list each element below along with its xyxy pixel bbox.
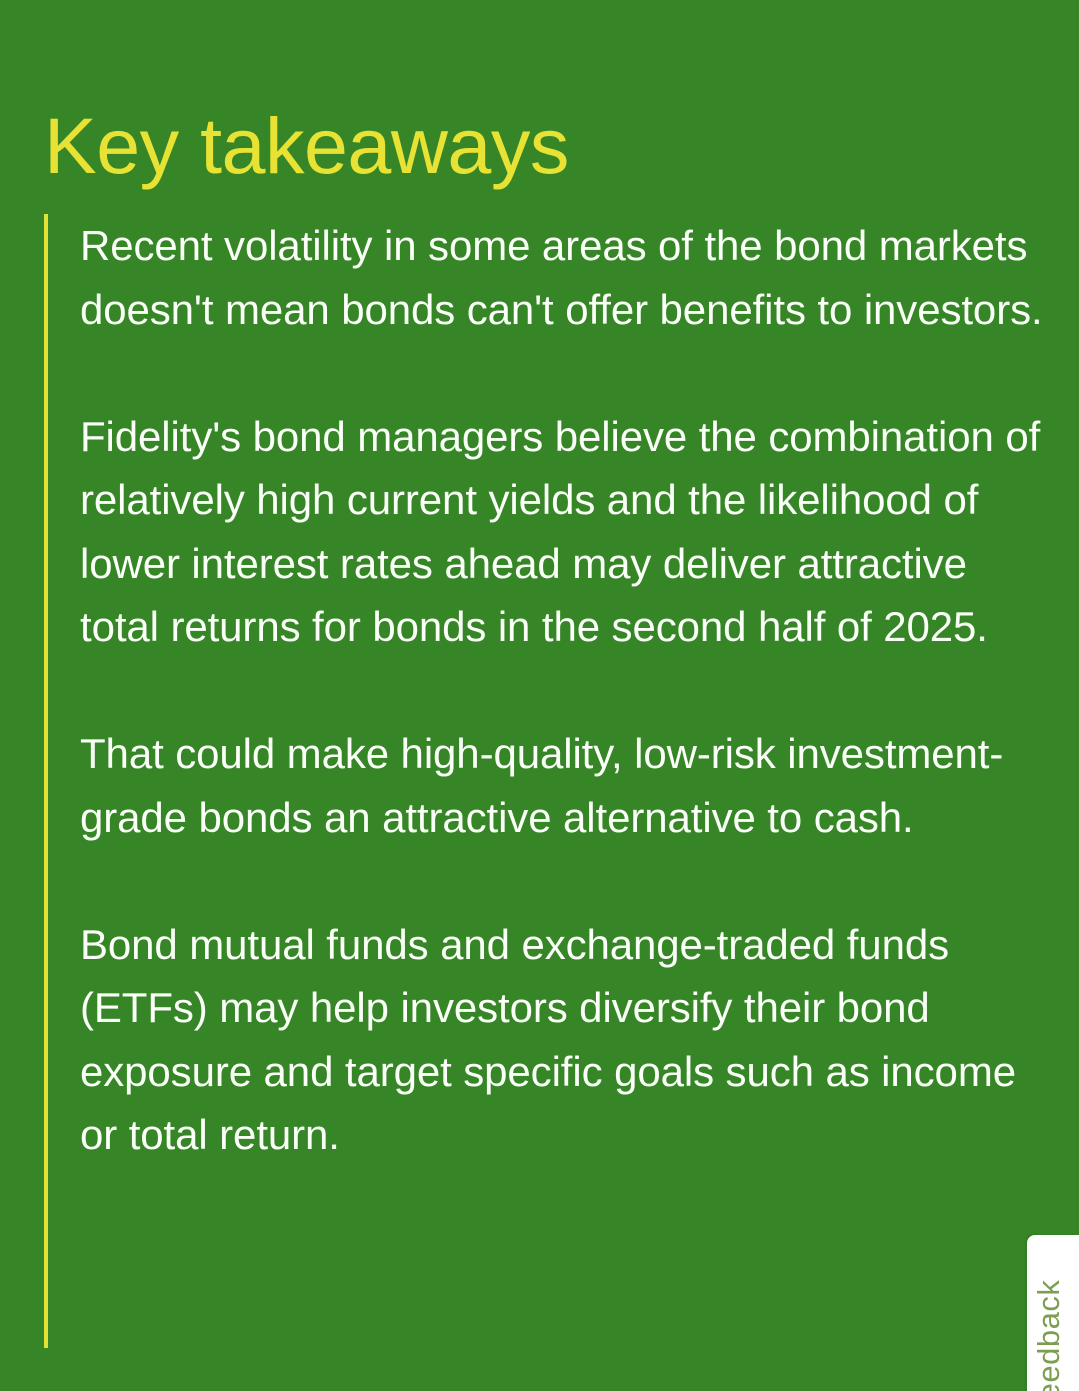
takeaway-paragraph: Recent volatility in some areas of the b… <box>80 214 1055 341</box>
takeaway-paragraph: Fidelity's bond managers believe the com… <box>80 405 1055 659</box>
key-takeaways-page: Key takeaways Recent volatility in some … <box>0 0 1079 1391</box>
feedback-tab[interactable]: eedback <box>1027 1235 1079 1391</box>
feedback-tab-label[interactable]: eedback <box>1027 1235 1071 1391</box>
page-title: Key takeaways <box>44 101 569 191</box>
accent-rule <box>44 214 48 1348</box>
takeaway-paragraph: Bond mutual funds and exchange-traded fu… <box>80 913 1055 1167</box>
takeaways-list: Recent volatility in some areas of the b… <box>80 214 1055 1167</box>
takeaway-paragraph: That could make high-quality, low-risk i… <box>80 722 1055 849</box>
